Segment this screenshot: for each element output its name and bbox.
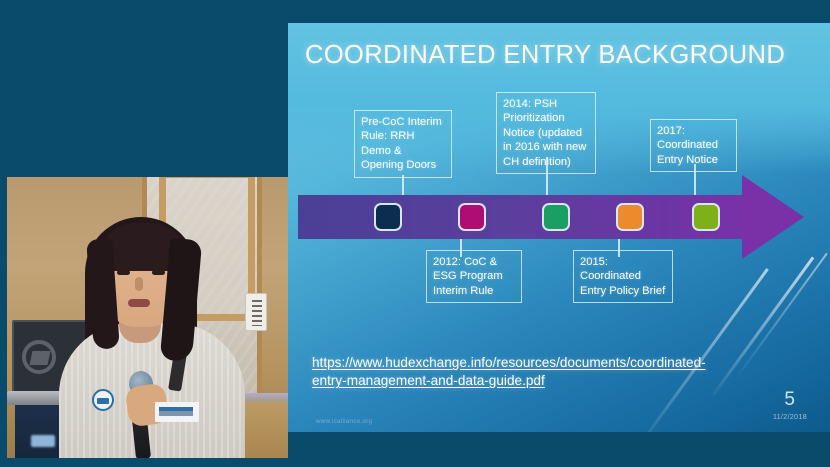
resource-link[interactable]: https://www.hudexchange.info/resources/d… — [312, 354, 712, 390]
laptop-logo-icon — [22, 340, 56, 374]
slide-page-number: 5 — [784, 389, 795, 411]
chip-pre-coc[interactable] — [374, 203, 402, 231]
speaker-video-pane[interactable] — [7, 177, 288, 458]
speaker-mouth — [128, 299, 150, 307]
timeline-arrow-bar — [298, 195, 746, 239]
speaker-nose — [135, 277, 143, 291]
speaker-brow-left — [115, 262, 131, 265]
presentation-slide[interactable]: COORDINATED ENTRY BACKGROUND Pre-CoC Int… — [288, 23, 830, 432]
slide-title: COORDINATED ENTRY BACKGROUND — [305, 41, 805, 70]
callout-2012[interactable]: 2012: CoC & ESG Program Interim Rule — [426, 250, 522, 303]
chip-2015[interactable] — [616, 203, 644, 231]
slide-footer-url: www.icalliance.org — [316, 418, 372, 425]
name-badge — [155, 402, 199, 422]
chip-2017[interactable] — [692, 203, 720, 231]
slide-date: 11/2/2018 — [773, 412, 807, 421]
speaker-eye-right — [152, 270, 165, 275]
wall-outlet-icon — [245, 293, 267, 331]
callout-pre-coc[interactable]: Pre-CoC Interim Rule: RRH Demo & Opening… — [354, 110, 452, 178]
round-pin-badge — [92, 389, 114, 411]
chip-2012[interactable] — [458, 203, 486, 231]
callout-2015[interactable]: 2015: Coordinated Entry Policy Brief — [573, 250, 673, 303]
speaker-brow-right — [151, 262, 167, 265]
chip-2014[interactable] — [542, 203, 570, 231]
timeline-arrow-head-icon — [742, 175, 804, 259]
timeline-arrow — [298, 175, 810, 249]
presentation-stage: COORDINATED ENTRY BACKGROUND Pre-CoC Int… — [0, 0, 830, 467]
speaker-eye-left — [117, 270, 130, 275]
